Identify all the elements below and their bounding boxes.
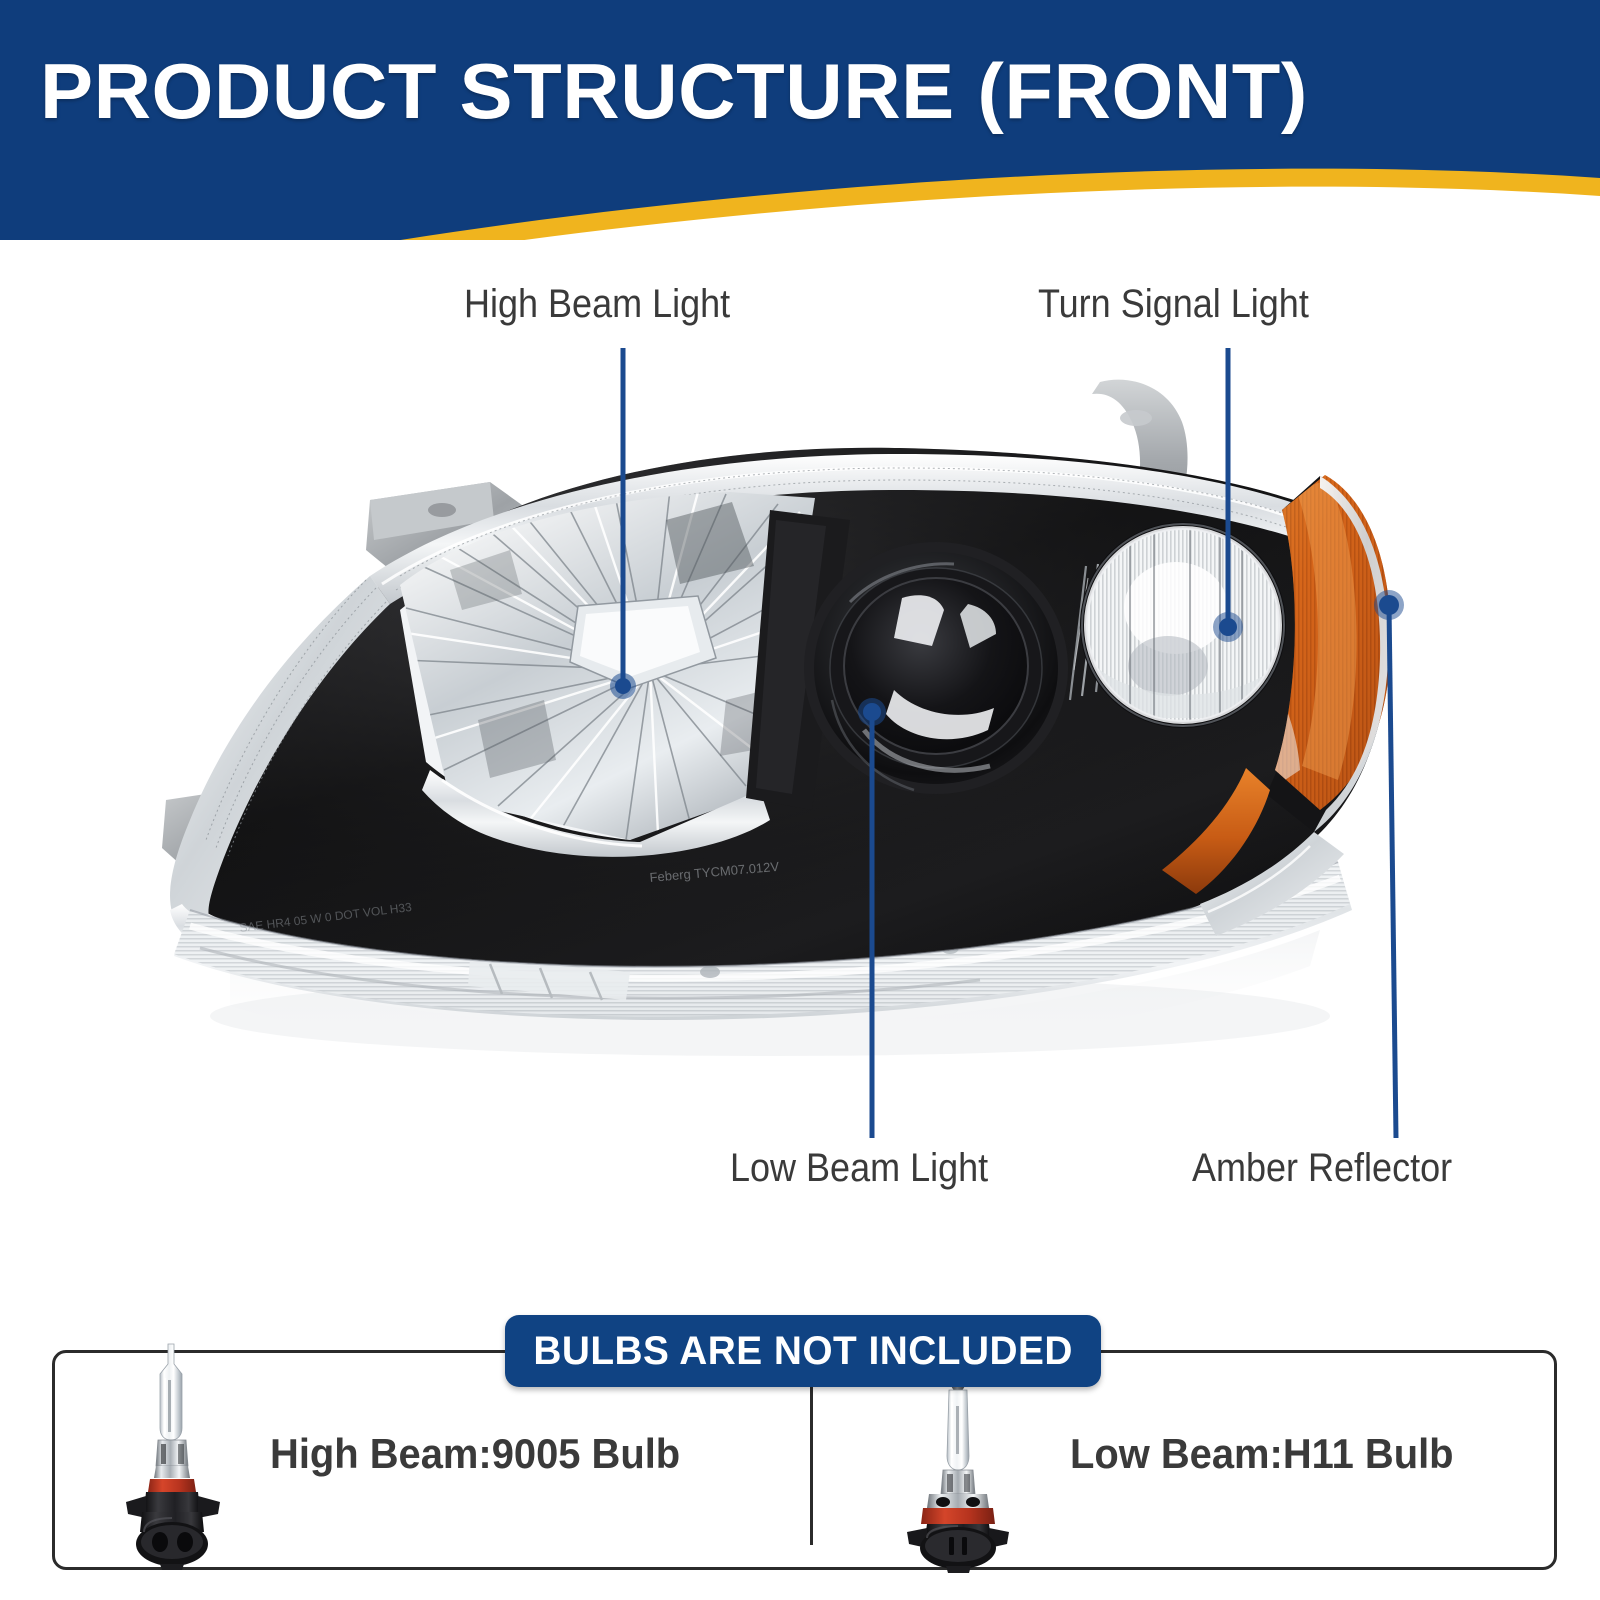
callout-label-turn-signal: Turn Signal Light	[1038, 282, 1309, 327]
headlight-illustration: Feberg TYCM07.012V SAE HR4 05 W 0 DOT VO…	[70, 370, 1490, 1070]
bulb-label-high-beam: High Beam:9005 Bulb	[270, 1430, 680, 1478]
header-banner: PRODUCT STRUCTURE (FRONT)	[0, 0, 1600, 240]
low-beam-projector	[804, 542, 1068, 794]
bulb-image-9005	[108, 1336, 238, 1571]
turn-signal-lamp	[1080, 522, 1286, 728]
callout-label-amber-reflector: Amber Reflector	[1192, 1146, 1452, 1191]
callout-label-low-beam: Low Beam Light	[730, 1146, 988, 1191]
page-title: PRODUCT STRUCTURE (FRONT)	[40, 46, 1600, 137]
bulb-label-low-beam: Low Beam:H11 Bulb	[1070, 1430, 1454, 1478]
bulbs-not-included-text: BULBS ARE NOT INCLUDED	[533, 1329, 1073, 1374]
callout-label-high-beam: High Beam Light	[464, 282, 730, 327]
bulbs-not-included-badge: BULBS ARE NOT INCLUDED	[505, 1315, 1101, 1387]
headlight-product-image: Feberg TYCM07.012V SAE HR4 05 W 0 DOT VO…	[70, 370, 1490, 1070]
bulb-panel-divider	[810, 1375, 813, 1545]
